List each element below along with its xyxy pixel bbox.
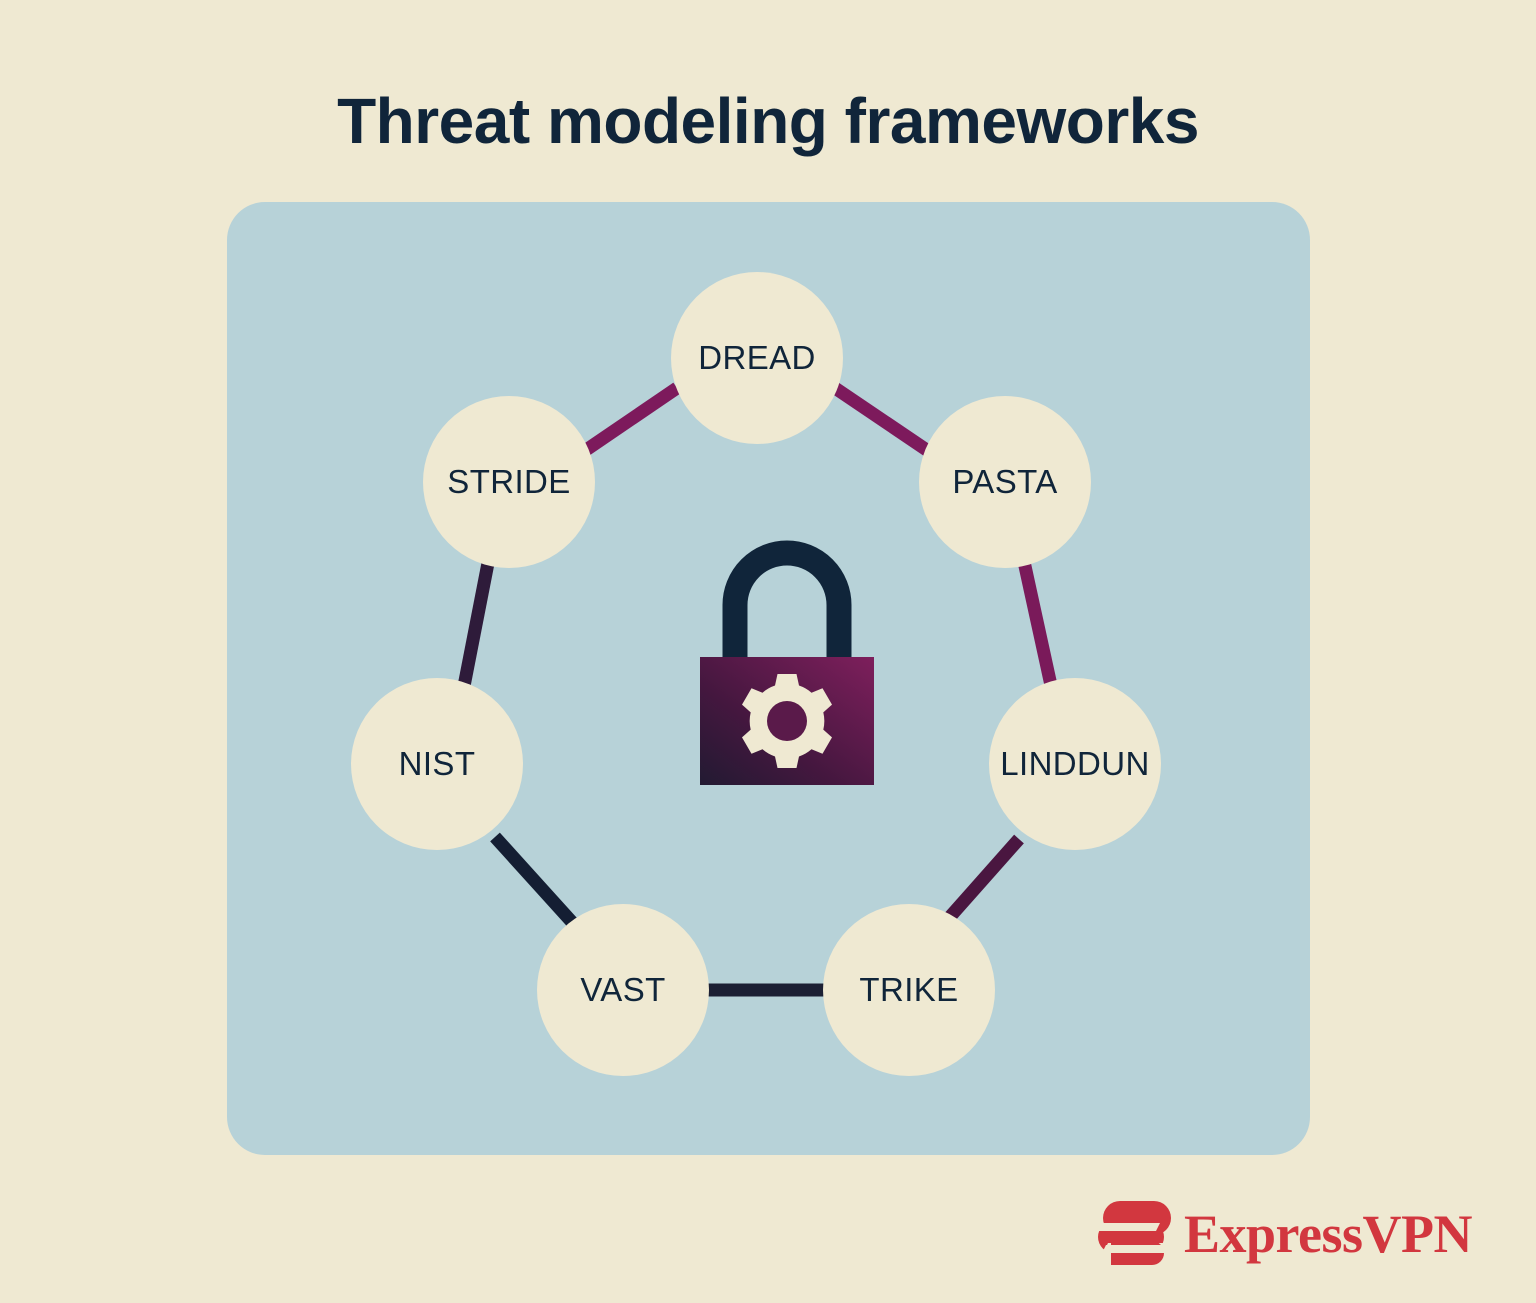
node-label-vast: VAST bbox=[580, 971, 665, 1009]
node-nist[interactable]: NIST bbox=[351, 678, 523, 850]
node-label-dread: DREAD bbox=[698, 339, 816, 377]
node-vast[interactable]: VAST bbox=[537, 904, 709, 1076]
padlock-gear-icon bbox=[697, 537, 877, 797]
node-linddun[interactable]: LINDDUN bbox=[989, 678, 1161, 850]
node-dread[interactable]: DREAD bbox=[671, 272, 843, 444]
expressvpn-e-mark-icon bbox=[1098, 1199, 1172, 1269]
expressvpn-wordmark: ExpressVPN bbox=[1184, 1207, 1472, 1261]
node-trike[interactable]: TRIKE bbox=[823, 904, 995, 1076]
node-label-trike: TRIKE bbox=[859, 971, 958, 1009]
node-label-pasta: PASTA bbox=[952, 463, 1057, 501]
page-title: Threat modeling frameworks bbox=[0, 86, 1536, 156]
node-label-linddun: LINDDUN bbox=[1000, 745, 1149, 783]
node-pasta[interactable]: PASTA bbox=[919, 396, 1091, 568]
node-label-nist: NIST bbox=[399, 745, 476, 783]
expressvpn-logo: ExpressVPN bbox=[1098, 1196, 1418, 1272]
infographic-canvas: Threat modeling frameworks DREAD bbox=[0, 0, 1536, 1303]
node-stride[interactable]: STRIDE bbox=[423, 396, 595, 568]
node-label-stride: STRIDE bbox=[447, 463, 570, 501]
diagram-panel: DREAD PASTA LINDDUN TRIKE VAST NIST STRI… bbox=[227, 202, 1310, 1155]
